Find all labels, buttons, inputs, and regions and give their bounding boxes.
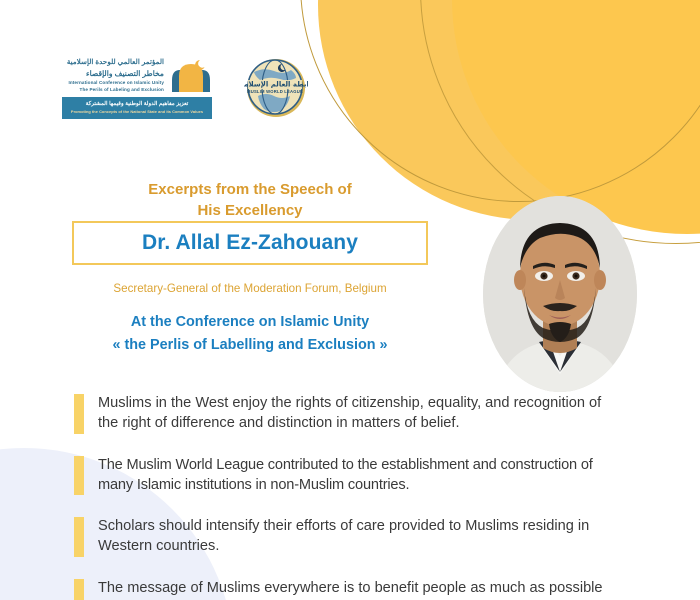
speech-points-list: Muslims in the West enjoy the rights of … xyxy=(74,394,608,600)
list-item-text: The Muslim World League contributed to t… xyxy=(98,456,608,496)
conference-logo-english-line-1: International Conference on Islamic Unit… xyxy=(62,80,164,87)
conference-logo-arabic-line-2: مخاطر التصنيف والإقصاء xyxy=(62,68,164,79)
list-item-text: Scholars should intensify their efforts … xyxy=(98,517,608,557)
conference-logo-banner-english: Promoting the Concepts of the National S… xyxy=(66,109,208,114)
bullet-bar-icon xyxy=(74,394,84,434)
bullet-bar-icon xyxy=(74,456,84,496)
thin-arc-outline-left xyxy=(300,0,700,202)
speaker-role: Secretary-General of the Moderation Foru… xyxy=(72,281,428,297)
list-item: The Muslim World League contributed to t… xyxy=(74,456,608,496)
kicker-heading: Excerpts from the Speech of His Excellen… xyxy=(72,179,428,222)
list-item: The message of Muslims everywhere is to … xyxy=(74,579,608,600)
speaker-portrait xyxy=(483,196,637,392)
conference-logo-banner: تعزيز مفاهيم الدولة الوطنية وقيمها المشت… xyxy=(62,97,212,118)
list-item-text: Muslims in the West enjoy the rights of … xyxy=(98,394,608,434)
conference-logo-english-line-2: The Perils of Labeling and Exclusion xyxy=(62,87,164,94)
speaker-name-box: Dr. Allal Ez-Zahouany xyxy=(72,221,428,265)
list-item-text: The message of Muslims everywhere is to … xyxy=(98,579,608,600)
conference-logo-banner-arabic: تعزيز مفاهيم الدولة الوطنية وقيمها المشت… xyxy=(66,101,208,108)
speech-excerpts-poster: المؤتمر العالمي للوحدة الإسلامية مخاطر ا… xyxy=(0,0,700,600)
svg-text:MUSLIM WORLD LEAGUE: MUSLIM WORLD LEAGUE xyxy=(247,89,303,94)
conference-logo-arabic-line-1: المؤتمر العالمي للوحدة الإسلامية xyxy=(62,57,164,67)
conference-title: At the Conference on Islamic Unity « the… xyxy=(62,311,438,358)
speaker-name: Dr. Allal Ez-Zahouany xyxy=(142,231,358,255)
muslim-world-league-logo: رابطة العالم الإسلامي MUSLIM WORLD LEAGU… xyxy=(244,52,308,124)
list-item: Muslims in the West enjoy the rights of … xyxy=(74,394,608,434)
list-item: Scholars should intensify their efforts … xyxy=(74,517,608,557)
logo-row: المؤتمر العالمي للوحدة الإسلامية مخاطر ا… xyxy=(62,52,308,124)
bullet-bar-icon xyxy=(74,517,84,557)
mosque-dome-icon xyxy=(170,58,212,92)
svg-text:رابطة العالم الإسلامي: رابطة العالم الإسلامي xyxy=(244,80,308,88)
globe-crescent-icon: رابطة العالم الإسلامي MUSLIM WORLD LEAGU… xyxy=(244,52,308,124)
bullet-bar-icon xyxy=(74,579,84,600)
conference-logo: المؤتمر العالمي للوحدة الإسلامية مخاطر ا… xyxy=(62,57,212,118)
